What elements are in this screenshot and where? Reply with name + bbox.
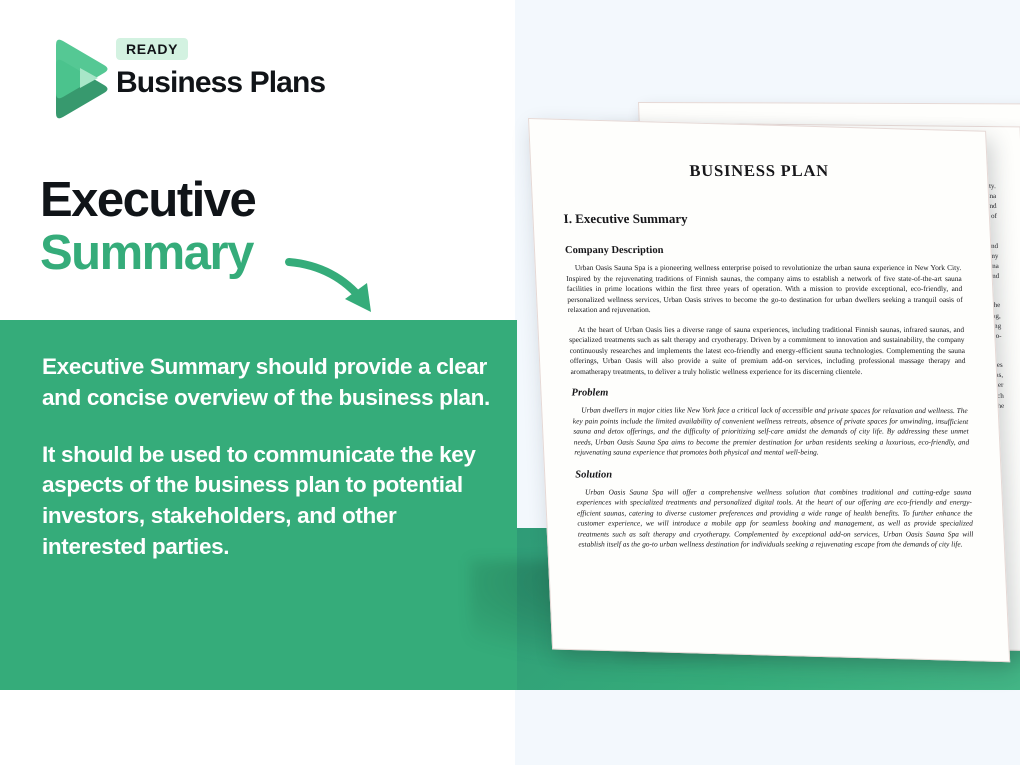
summary-paragraph-2: It should be used to communicate the key… xyxy=(42,440,494,563)
document-paragraph: Urban Oasis Sauna Spa is a pioneering we… xyxy=(566,263,964,316)
document-paragraph: Urban Oasis Sauna Spa will offer a compr… xyxy=(576,487,974,550)
document-page-content: BUSINESS PLAN I. Executive Summary Compa… xyxy=(529,119,1009,648)
document-title: BUSINESS PLAN xyxy=(561,161,957,181)
document-paragraph: Urban dwellers in major cities like New … xyxy=(572,406,970,459)
slide-canvas: READY Business Plans Executive Summary E… xyxy=(0,0,1020,765)
page-title-line-1: Executive xyxy=(40,175,460,226)
play-logo-icon xyxy=(38,35,116,121)
document-block-solution: Solution Urban Oasis Sauna Spa will offe… xyxy=(575,469,974,550)
document-subheading: Problem xyxy=(571,388,967,399)
document-stack: Urban Oasis Sauna Spa is a pioneering we… xyxy=(470,80,1020,660)
page-title: Executive Summary xyxy=(40,175,460,281)
document-block-problem: Problem Urban dwellers in major cities l… xyxy=(571,388,970,459)
document-block-company-description: Company Description Urban Oasis Sauna Sp… xyxy=(565,245,966,377)
page-title-line-2: Summary xyxy=(40,226,460,281)
document-subheading: Company Description xyxy=(565,245,961,256)
curved-arrow-down-right-icon xyxy=(283,252,393,324)
brand-text-block: READY Business Plans xyxy=(116,38,356,99)
document-paragraph: At the heart of Urban Oasis lies a diver… xyxy=(568,324,966,377)
document-subheading: Solution xyxy=(575,469,971,480)
summary-paragraph-1: Executive Summary should provide a clear… xyxy=(42,352,494,414)
summary-description: Executive Summary should provide a clear… xyxy=(42,352,494,563)
ready-badge: READY xyxy=(116,38,188,60)
document-section-heading: I. Executive Summary xyxy=(563,211,959,227)
brand-logo[interactable]: READY Business Plans xyxy=(38,32,338,122)
brand-name: Business Plans xyxy=(116,67,356,99)
document-page-front[interactable]: BUSINESS PLAN I. Executive Summary Compa… xyxy=(528,118,1010,662)
